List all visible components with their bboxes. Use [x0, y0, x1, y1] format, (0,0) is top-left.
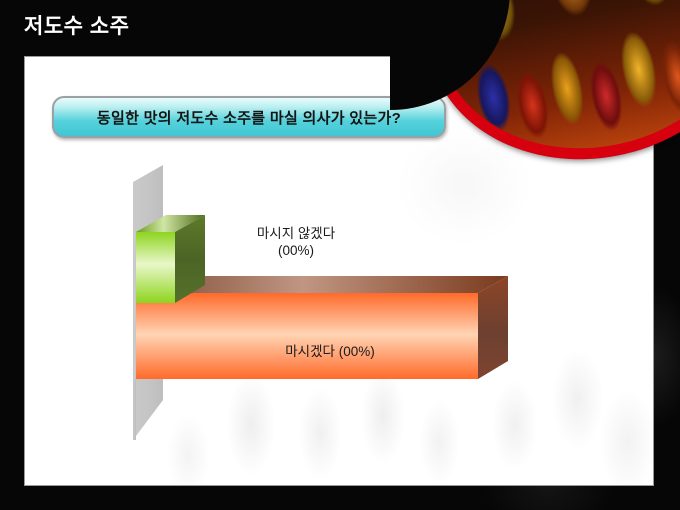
- question-banner: 동일한 맛의 저도수 소주를 마실 의사가 있는가?: [52, 96, 446, 138]
- green-bar-label-line2: (00%): [221, 242, 371, 259]
- slide-title: 저도수 소주: [24, 10, 129, 40]
- orange-bar-front: [136, 293, 478, 379]
- green-bar-front: [136, 232, 175, 303]
- axis-wall-foot: [133, 379, 136, 440]
- orange-bar-data-label: 마시겠다 (00%): [165, 340, 495, 360]
- green-bar-label-line1: 마시지 않겠다: [221, 225, 371, 242]
- question-text: 동일한 맛의 저도수 소주를 마실 의사가 있는가?: [97, 107, 401, 128]
- green-bar-data-label: 마시지 않겠다 (00%): [221, 225, 371, 259]
- slide: 저도수 소주: [0, 0, 680, 510]
- orange-bar-side: [478, 276, 508, 379]
